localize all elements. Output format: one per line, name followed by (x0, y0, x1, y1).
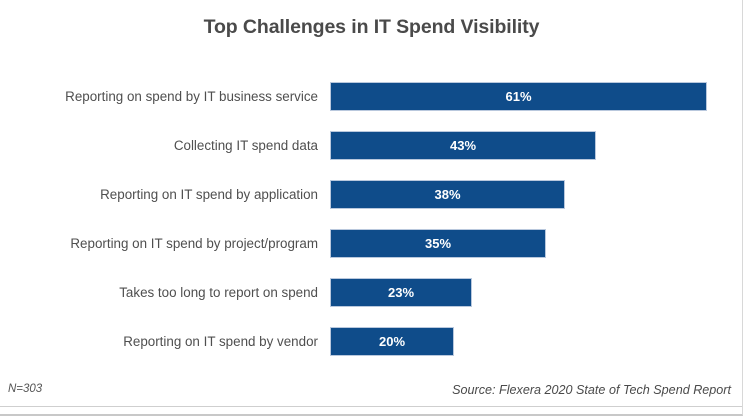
bar-segment[interactable]: 20% (330, 327, 454, 356)
bar-segment[interactable]: 35% (330, 229, 546, 258)
bar-track: 38% (330, 180, 565, 209)
bar-track: 61% (330, 82, 707, 111)
bar-category-label: Reporting on spend by IT business servic… (10, 82, 318, 111)
bar-row: Reporting on IT spend by vendor 20% (0, 327, 743, 356)
bar-row: Reporting on spend by IT business servic… (0, 82, 743, 111)
bar-row: Reporting on IT spend by application 38% (0, 180, 743, 209)
bar-value-label: 35% (331, 230, 545, 259)
chart-figure: Top Challenges in IT Spend Visibility Re… (0, 0, 743, 416)
bar-category-label: Reporting on IT spend by application (10, 180, 318, 209)
bar-segment[interactable]: 43% (330, 131, 596, 160)
bar-value-label: 61% (331, 83, 706, 112)
chart-title: Top Challenges in IT Spend Visibility (0, 16, 743, 39)
footer-divider (0, 406, 743, 407)
bar-category-label: Reporting on IT spend by vendor (10, 327, 318, 356)
bar-value-label: 43% (331, 132, 595, 161)
chart-footer: N=303 Source: Flexera 2020 State of Tech… (0, 383, 743, 403)
sample-size-note: N=303 (8, 383, 42, 395)
source-attribution: Source: Flexera 2020 State of Tech Spend… (452, 383, 731, 397)
bar-category-label: Collecting IT spend data (10, 131, 318, 160)
bar-value-label: 38% (331, 181, 564, 210)
bar-value-label: 23% (331, 279, 471, 308)
bar-segment[interactable]: 61% (330, 82, 707, 111)
bar-track: 23% (330, 278, 472, 307)
bar-value-label: 20% (331, 328, 453, 357)
bar-track: 43% (330, 131, 596, 160)
bar-row: Collecting IT spend data 43% (0, 131, 743, 160)
bar-segment[interactable]: 38% (330, 180, 565, 209)
bar-segment[interactable]: 23% (330, 278, 472, 307)
bar-row: Takes too long to report on spend 23% (0, 278, 743, 307)
bar-row: Reporting on IT spend by project/program… (0, 229, 743, 258)
bar-chart-plot-area: Reporting on spend by IT business servic… (0, 72, 743, 372)
bar-category-label: Reporting on IT spend by project/program (10, 229, 318, 258)
bar-track: 35% (330, 229, 546, 258)
bar-track: 20% (330, 327, 454, 356)
bar-category-label: Takes too long to report on spend (10, 278, 318, 307)
